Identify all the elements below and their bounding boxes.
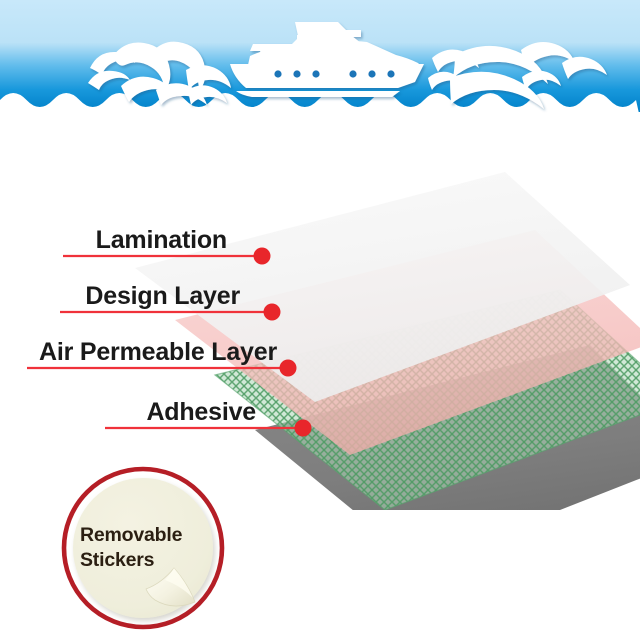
- badge-line-2: Stickers: [80, 549, 155, 571]
- badge-line-1: Removable: [80, 524, 183, 546]
- poster-canvas: Lamination Design Layer Air Permeable La…: [0, 0, 640, 640]
- sticker-layer-stack: [0, 110, 640, 510]
- removable-stickers-badge[interactable]: Removable Stickers: [52, 462, 234, 634]
- ocean-banner: [0, 0, 640, 118]
